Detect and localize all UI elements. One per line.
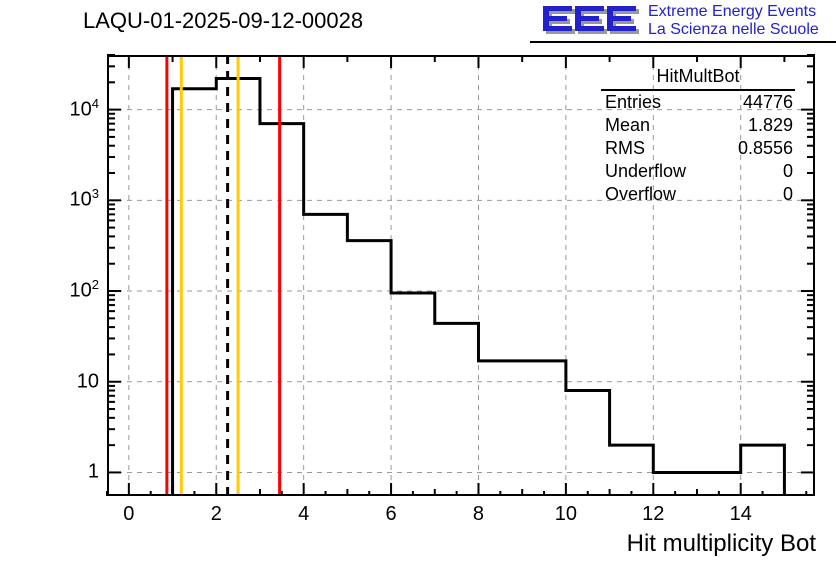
y-tick-label: 104 [70, 98, 99, 121]
x-tick-label: 4 [298, 503, 309, 526]
stats-value: 0 [783, 161, 793, 182]
stats-rows: Entries44776Mean1.829RMS0.8556Underflow0… [601, 91, 795, 206]
stats-row: RMS0.8556 [601, 137, 795, 160]
stats-key: Overflow [605, 184, 676, 205]
stats-key: RMS [605, 138, 645, 159]
y-tick-label: 102 [70, 280, 99, 303]
x-tick-label: 2 [211, 503, 222, 526]
stats-box: HitMultBot Entries44776Mean1.829RMS0.855… [601, 66, 795, 206]
x-axis-title: Hit multiplicity Bot [627, 530, 816, 558]
stats-row: Mean1.829 [601, 114, 795, 137]
stats-row: Entries44776 [601, 91, 795, 114]
stats-key: Mean [605, 115, 650, 136]
stats-key: Underflow [605, 161, 686, 182]
stats-value: 0 [783, 184, 793, 205]
x-tick-label: 6 [386, 503, 397, 526]
stats-value: 44776 [743, 92, 793, 113]
stats-value: 0.8556 [738, 138, 793, 159]
x-tick-label: 0 [123, 503, 134, 526]
stats-title: HitMultBot [601, 66, 795, 91]
y-tick-label: 1 [88, 461, 99, 484]
x-tick-label: 8 [473, 503, 484, 526]
x-tick-label: 12 [642, 503, 664, 526]
y-tick-label: 103 [70, 189, 99, 212]
root-canvas: LAQU-01-2025-09-12-00028 Extreme Ene [0, 0, 836, 572]
x-tick-label: 10 [555, 503, 577, 526]
stats-value: 1.829 [748, 115, 793, 136]
stats-key: Entries [605, 92, 661, 113]
x-tick-label: 14 [730, 503, 752, 526]
y-tick-label: 10 [77, 370, 99, 393]
stats-row: Underflow0 [601, 160, 795, 183]
stats-row: Overflow0 [601, 183, 795, 206]
